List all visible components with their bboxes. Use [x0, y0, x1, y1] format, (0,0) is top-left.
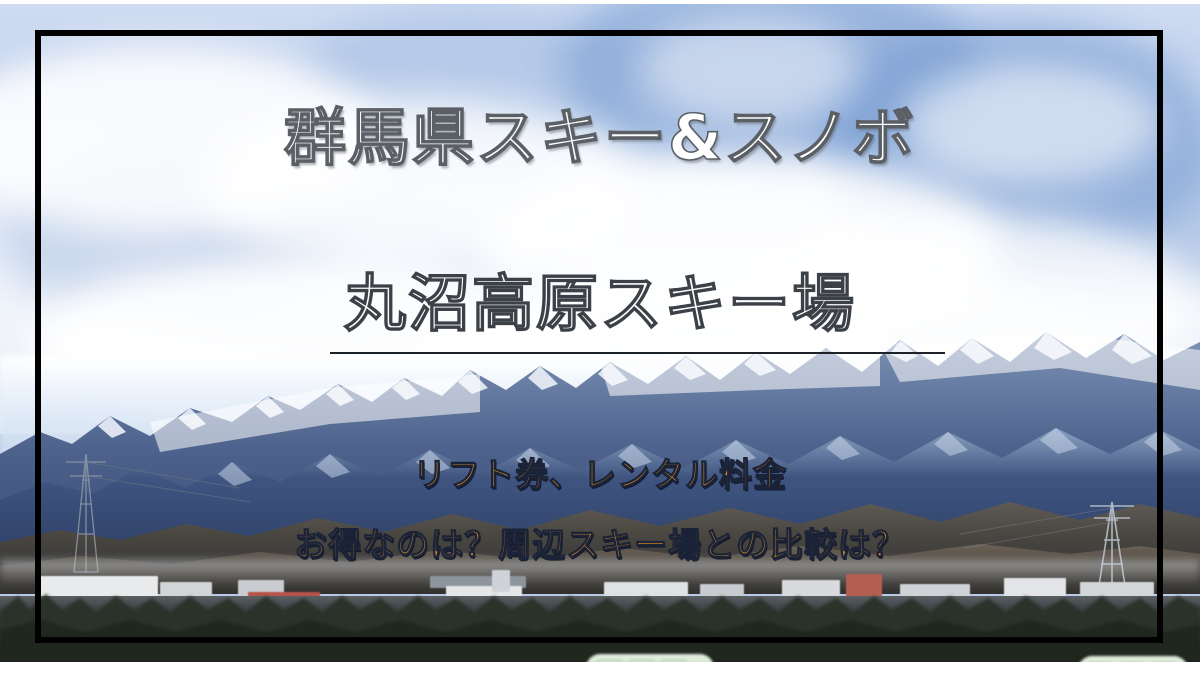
title-underline — [330, 352, 945, 354]
pale-green-rounded-object — [1078, 656, 1188, 662]
subtitle-line-1: リフト券、レンタル料金 — [0, 455, 1200, 495]
page-title-line-1: 群馬県スキー&スノボ — [0, 102, 1200, 174]
page-title-line-2: 丸沼高原スキー場 — [0, 268, 1200, 340]
subtitle-line-2: お得なのは？周辺スキー場との比較は？ — [0, 525, 1200, 565]
tree-line — [0, 590, 1200, 662]
building — [492, 570, 510, 592]
pale-green-rounded-object — [586, 654, 714, 662]
thumbnail-canvas: 群馬県スキー&スノボ 丸沼高原スキー場 リフト券、レンタル料金 お得なのは？周辺… — [0, 0, 1200, 675]
